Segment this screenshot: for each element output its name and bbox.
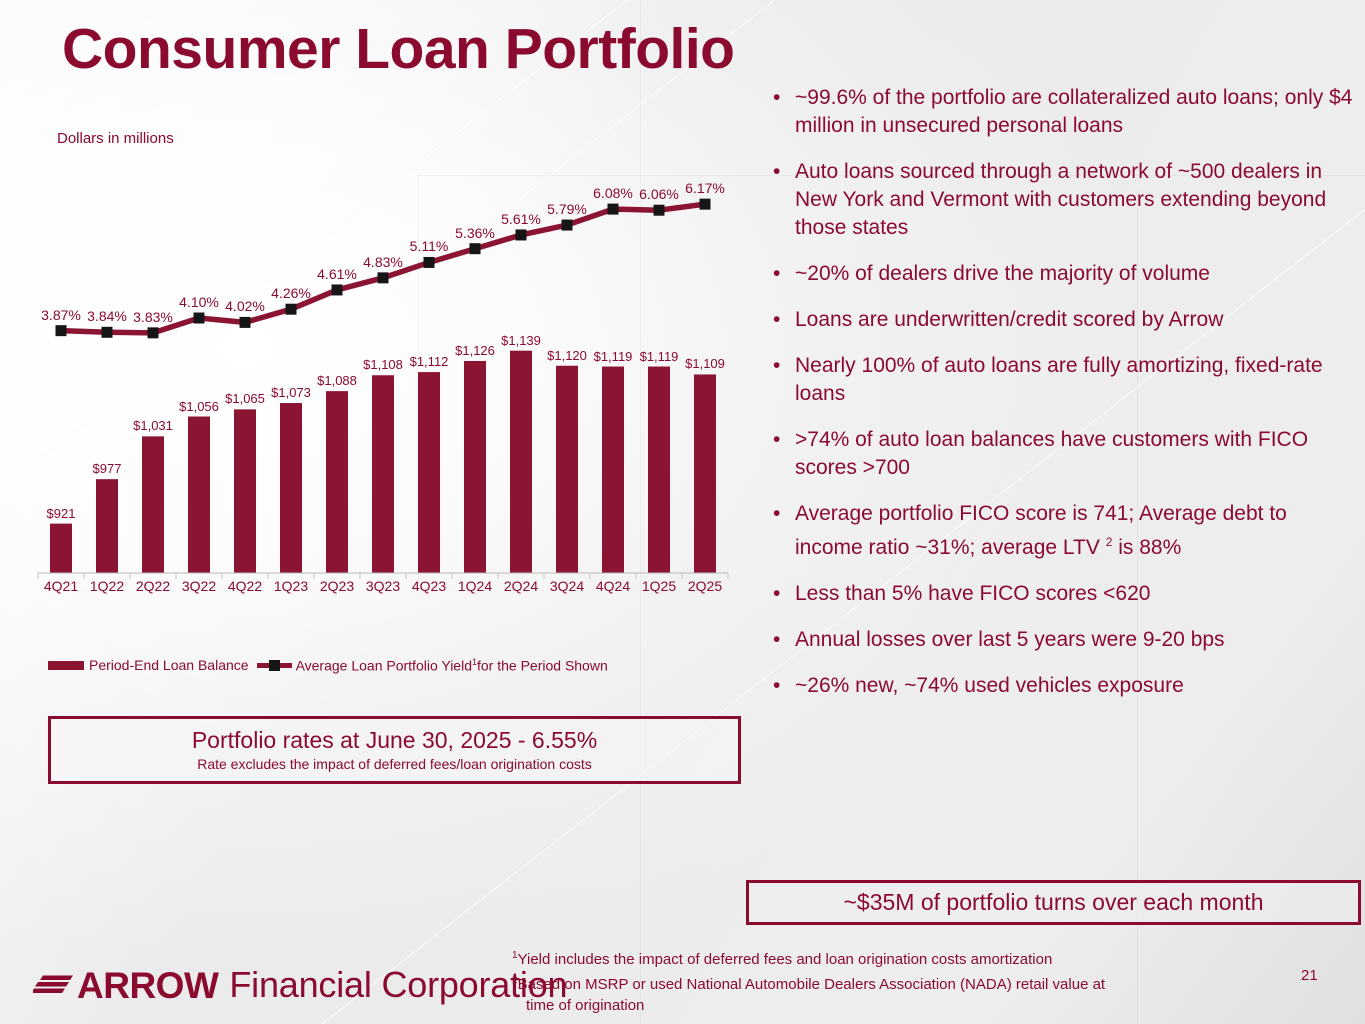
yield-marker-2Q23	[332, 284, 343, 295]
bullet-text: ~99.6% of the portfolio are collateraliz…	[795, 84, 1358, 140]
yield-label-1Q24: 5.36%	[455, 225, 495, 241]
bullet-text: >74% of auto loan balances have customer…	[795, 426, 1358, 482]
bar-label-4Q24: $1,119	[594, 349, 633, 364]
yield-marker-1Q22	[102, 327, 113, 338]
bar-label-3Q23: $1,108	[363, 357, 403, 372]
yield-marker-2Q22	[148, 327, 159, 338]
x-tick-2Q23: 2Q23	[320, 578, 354, 594]
bullet-text: Loans are underwritten/credit scored by …	[795, 306, 1358, 334]
bullet-item: •~99.6% of the portfolio are collaterali…	[773, 84, 1358, 140]
legend-yield-text: Average Loan Portfolio Yield	[296, 657, 472, 673]
yield-marker-1Q24	[470, 243, 481, 254]
x-tick-1Q24: 1Q24	[458, 578, 492, 594]
bar-label-1Q23: $1,073	[271, 385, 311, 400]
yield-label-1Q25: 6.06%	[639, 186, 679, 202]
bullet-dot-icon: •	[773, 672, 795, 700]
bar-2Q22	[142, 436, 164, 573]
bullet-item: •Average portfolio FICO score is 741; Av…	[773, 500, 1358, 562]
x-tick-2Q25: 2Q25	[688, 578, 722, 594]
yield-label-4Q24: 6.08%	[593, 185, 633, 201]
bullet-text: Auto loans sourced through a network of …	[795, 158, 1358, 242]
yield-label-3Q23: 4.83%	[363, 254, 403, 270]
yield-label-2Q22: 3.83%	[133, 309, 173, 325]
bullet-item: •Annual losses over last 5 years were 9-…	[773, 626, 1358, 654]
bar-1Q23	[280, 403, 302, 573]
yield-marker-2Q25	[700, 199, 711, 210]
bar-3Q22	[188, 417, 210, 573]
x-tick-4Q22: 4Q22	[228, 578, 262, 594]
bar-label-2Q25: $1,109	[685, 356, 725, 371]
footnote-line: 2Based on MSRP or used National Automobi…	[512, 970, 1302, 995]
chart-legend: Period-End Loan Balance Average Loan Por…	[48, 653, 748, 677]
portfolio-rates-subtitle: Rate excludes the impact of deferred fee…	[197, 756, 592, 772]
bar-label-4Q21: $921	[47, 506, 76, 521]
footnote-line: time of origination	[512, 995, 1302, 1016]
yield-marker-3Q22	[194, 313, 205, 324]
bar-4Q21	[50, 524, 72, 573]
bullet-text: Annual losses over last 5 years were 9-2…	[795, 626, 1358, 654]
footnote-text: Based on MSRP or used National Automobil…	[518, 976, 1106, 993]
yield-label-4Q22: 4.02%	[225, 298, 265, 314]
x-tick-3Q23: 3Q23	[366, 578, 400, 594]
yield-marker-4Q23	[424, 257, 435, 268]
yield-marker-2Q24	[516, 229, 527, 240]
yield-label-4Q23: 5.11%	[410, 238, 449, 254]
legend-yield-suffix: for the Period Shown	[477, 657, 608, 673]
bar-label-1Q25: $1,119	[640, 349, 679, 364]
yield-marker-3Q24	[562, 220, 573, 231]
x-tick-2Q24: 2Q24	[504, 578, 538, 594]
arrow-financial-logo: ARROW Financial Corporation	[33, 962, 567, 1008]
bullet-text: ~26% new, ~74% used vehicles exposure	[795, 672, 1358, 700]
bullet-text: Average portfolio FICO score is 741; Ave…	[795, 500, 1358, 562]
yield-marker-4Q21	[56, 325, 67, 336]
bar-4Q22	[234, 409, 256, 573]
bar-label-1Q24: $1,126	[455, 343, 495, 358]
turnover-callout: ~$35M of portfolio turns over each month	[746, 880, 1361, 925]
footnote-text: Yield includes the impact of deferred fe…	[518, 951, 1053, 968]
yield-marker-1Q25	[654, 205, 665, 216]
yield-marker-4Q24	[608, 204, 619, 215]
yield-label-4Q21: 3.87%	[41, 307, 81, 323]
chart-plot-area: $921$977$1,031$1,056$1,065$1,073$1,088$1…	[0, 150, 760, 590]
yield-marker-4Q22	[240, 317, 251, 328]
x-tick-3Q24: 3Q24	[550, 578, 584, 594]
bullet-list: •~99.6% of the portfolio are collaterali…	[773, 84, 1358, 718]
bullet-item: •~20% of dealers drive the majority of v…	[773, 260, 1358, 288]
bar-3Q23	[372, 375, 394, 573]
bullet-dot-icon: •	[773, 352, 795, 380]
logo-rest-text: Financial Corporation	[229, 967, 567, 1003]
bar-2Q24	[510, 351, 532, 573]
bullet-text: Nearly 100% of auto loans are fully amor…	[795, 352, 1358, 408]
bar-4Q24	[602, 367, 624, 573]
bullet-item: •~26% new, ~74% used vehicles exposure	[773, 672, 1358, 700]
yield-label-2Q25: 6.17%	[685, 180, 725, 196]
yield-label-3Q24: 5.79%	[547, 201, 587, 217]
bullet-dot-icon: •	[773, 580, 795, 608]
yield-marker-3Q23	[378, 272, 389, 283]
bar-3Q24	[556, 366, 578, 573]
yield-label-1Q22: 3.84%	[87, 308, 127, 324]
bar-2Q25	[694, 374, 716, 573]
bar-2Q23	[326, 391, 348, 573]
x-tick-2Q22: 2Q22	[136, 578, 170, 594]
bullet-item: •Nearly 100% of auto loans are fully amo…	[773, 352, 1358, 408]
bar-4Q23	[418, 372, 440, 573]
x-tick-4Q21: 4Q21	[44, 578, 78, 594]
legend-label-yield: Average Loan Portfolio Yield1for the Per…	[296, 657, 608, 674]
bullet-text: ~20% of dealers drive the majority of vo…	[795, 260, 1358, 288]
bullet-item: •Loans are underwritten/credit scored by…	[773, 306, 1358, 334]
bullet-item: •>74% of auto loan balances have custome…	[773, 426, 1358, 482]
yield-label-2Q23: 4.61%	[317, 266, 357, 282]
portfolio-rates-title: Portfolio rates at June 30, 2025 - 6.55%	[192, 728, 597, 753]
x-tick-4Q24: 4Q24	[596, 578, 630, 594]
bar-label-2Q23: $1,088	[317, 373, 357, 388]
bar-label-3Q24: $1,120	[547, 348, 587, 363]
bullet-dot-icon: •	[773, 158, 795, 186]
x-tick-1Q23: 1Q23	[274, 578, 308, 594]
bar-1Q24	[464, 361, 486, 573]
yield-marker-1Q23	[286, 304, 297, 315]
bar-label-4Q23: $1,112	[410, 354, 449, 369]
bullet-dot-icon: •	[773, 84, 795, 112]
bullet-dot-icon: •	[773, 626, 795, 654]
bar-label-1Q22: $977	[93, 461, 122, 476]
x-tick-4Q23: 4Q23	[412, 578, 446, 594]
x-tick-1Q22: 1Q22	[90, 578, 124, 594]
bullet-text: Less than 5% have FICO scores <620	[795, 580, 1358, 608]
bar-label-3Q22: $1,056	[179, 399, 219, 414]
bullet-text-before: Average portfolio FICO score is 741; Ave…	[795, 502, 1287, 559]
chart-x-axis: 4Q211Q222Q223Q224Q221Q232Q233Q234Q231Q24…	[0, 578, 760, 600]
yield-label-3Q22: 4.10%	[179, 294, 219, 310]
bullet-item: •Auto loans sourced through a network of…	[773, 158, 1358, 242]
footnote-line: 1Yield includes the impact of deferred f…	[512, 945, 1302, 970]
bar-label-4Q22: $1,065	[225, 391, 265, 406]
yield-label-2Q24: 5.61%	[501, 211, 541, 227]
bullet-item: •Less than 5% have FICO scores <620	[773, 580, 1358, 608]
x-tick-1Q25: 1Q25	[642, 578, 676, 594]
legend-bar-swatch	[48, 661, 84, 670]
legend-line-swatch	[257, 660, 292, 671]
loan-portfolio-chart: Dollars in millions $921$977$1,031$1,056…	[0, 0, 760, 700]
arrow-mark-icon	[33, 970, 75, 1000]
x-tick-3Q22: 3Q22	[182, 578, 216, 594]
bullet-dot-icon: •	[773, 426, 795, 454]
bar-label-2Q22: $1,031	[133, 418, 173, 433]
page-number: 21	[1301, 967, 1318, 984]
bullet-text-after: is 88%	[1112, 536, 1181, 559]
bar-1Q22	[96, 479, 118, 573]
bar-label-2Q24: $1,139	[501, 333, 541, 348]
bullet-dot-icon: •	[773, 500, 795, 528]
yield-label-1Q23: 4.26%	[271, 285, 311, 301]
footnotes: 1Yield includes the impact of deferred f…	[512, 945, 1302, 1016]
legend-label-balance: Period-End Loan Balance	[89, 657, 249, 673]
turnover-callout-text: ~$35M of portfolio turns over each month	[844, 889, 1264, 916]
chart-units-label: Dollars in millions	[57, 130, 174, 147]
bar-1Q25	[648, 367, 670, 573]
portfolio-rates-callout: Portfolio rates at June 30, 2025 - 6.55%…	[48, 716, 741, 784]
bullet-dot-icon: •	[773, 306, 795, 334]
bullet-dot-icon: •	[773, 260, 795, 288]
logo-brand-text: ARROW	[77, 967, 218, 1004]
slide-content: Consumer Loan Portfolio Dollars in milli…	[0, 0, 1365, 1024]
